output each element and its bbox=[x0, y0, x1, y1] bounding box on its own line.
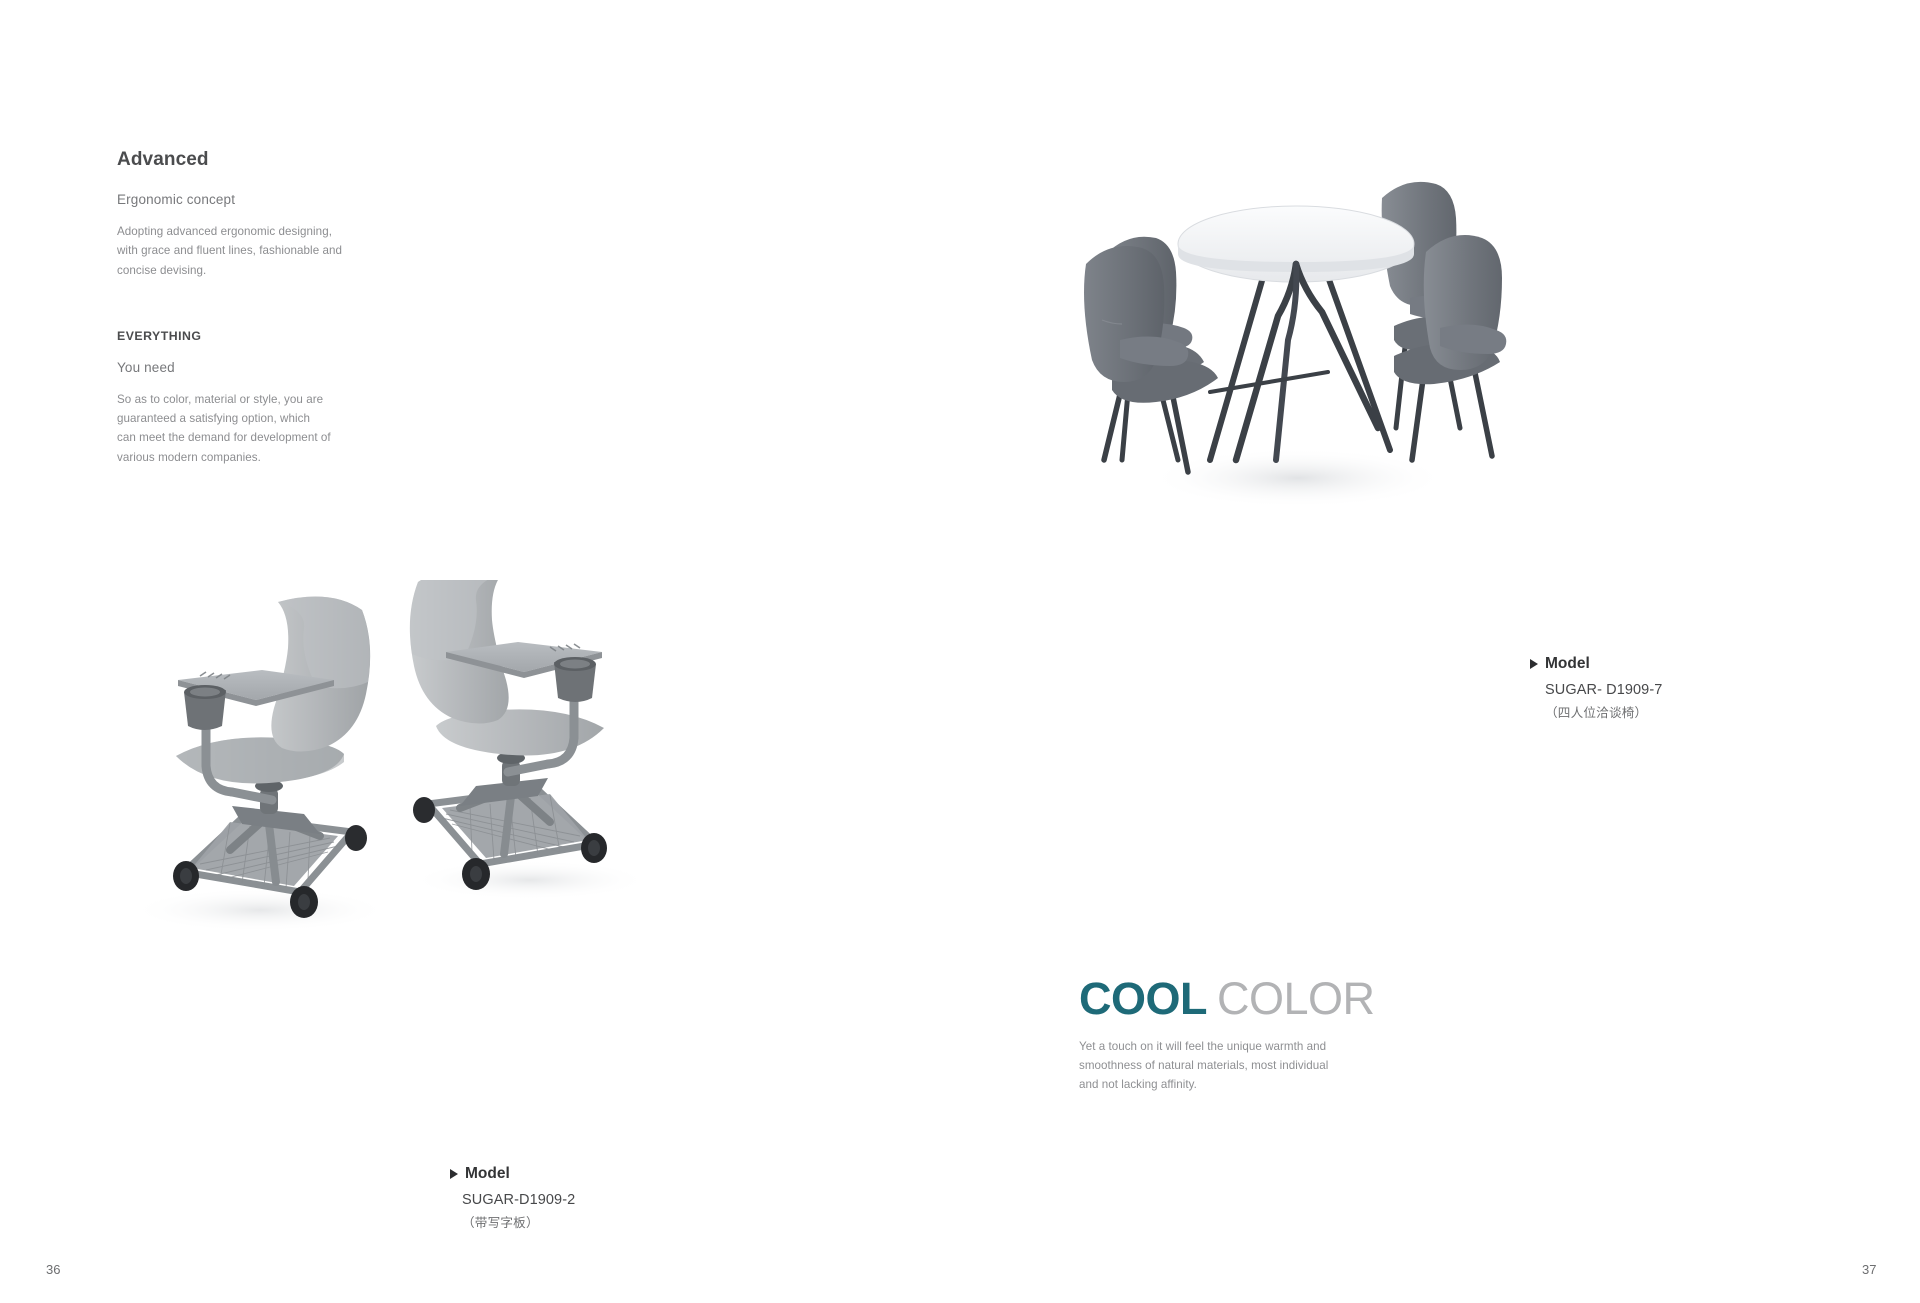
page-number-left: 36 bbox=[46, 1262, 60, 1277]
caption-model-chinese: （带写字板） bbox=[450, 1215, 575, 1231]
caption-title: Model bbox=[450, 1165, 575, 1184]
cool-color-block: COOLCOLOR Yet a touch on it will feel th… bbox=[1079, 975, 1379, 1095]
paragraph-line: smoothness of natural materials, most in… bbox=[1079, 1057, 1379, 1076]
caption-model-code: SUGAR- D1909-7 bbox=[1530, 681, 1662, 699]
spacer bbox=[117, 280, 387, 329]
paragraph-line: Yet a touch on it will feel the unique w… bbox=[1079, 1038, 1379, 1057]
subheading-ergonomic-concept: Ergonomic concept bbox=[117, 192, 387, 208]
cup-holder-left bbox=[184, 685, 226, 730]
paragraph-line: with grace and fluent lines, fashionable… bbox=[117, 241, 387, 260]
subheading-you-need: You need bbox=[117, 360, 387, 376]
intro-text-block: Advanced Ergonomic concept Adopting adva… bbox=[117, 150, 387, 467]
tablet-arm-mobile-chairs-photo bbox=[80, 580, 720, 950]
catalog-spread: Advanced Ergonomic concept Adopting adva… bbox=[0, 0, 1920, 1303]
color-word: COLOR bbox=[1217, 973, 1375, 1024]
cool-color-heading: COOLCOLOR bbox=[1079, 975, 1379, 1022]
round-meeting-table-with-four-chairs-photo bbox=[1060, 160, 1520, 530]
cool-word: COOL bbox=[1079, 973, 1207, 1024]
paragraph-line: various modern companies. bbox=[117, 448, 387, 467]
paragraph-line: and not lacking affinity. bbox=[1079, 1076, 1379, 1095]
caption-title-label: Model bbox=[1545, 655, 1590, 674]
paragraph-line: Adopting advanced ergonomic designing, bbox=[117, 222, 387, 241]
triangle-right-icon bbox=[450, 1169, 458, 1179]
heading-everything: EVERYTHING bbox=[117, 329, 387, 343]
paragraph-line: guaranteed a satisfying option, which bbox=[117, 409, 387, 428]
paragraph-line: So as to color, material or style, you a… bbox=[117, 390, 387, 409]
paragraph-line: concise devising. bbox=[117, 261, 387, 280]
page-number-right: 37 bbox=[1862, 1262, 1876, 1277]
cup-holder-right bbox=[554, 657, 596, 702]
caption-model-sugar-d1909-7: Model SUGAR- D1909-7 （四人位洽谈椅） bbox=[1530, 655, 1662, 721]
caption-model-sugar-d1909-2: Model SUGAR-D1909-2 （带写字板） bbox=[450, 1165, 575, 1231]
caption-model-code: SUGAR-D1909-2 bbox=[450, 1191, 575, 1209]
triangle-right-icon bbox=[1530, 659, 1538, 669]
page-title: Advanced bbox=[117, 150, 387, 171]
paragraph-line: can meet the demand for development of bbox=[117, 428, 387, 447]
paragraph-ergonomic: Adopting advanced ergonomic designing, w… bbox=[117, 222, 387, 280]
caption-title-label: Model bbox=[465, 1165, 510, 1184]
caption-model-chinese: （四人位洽谈椅） bbox=[1530, 705, 1662, 721]
cool-color-paragraph: Yet a touch on it will feel the unique w… bbox=[1079, 1038, 1379, 1095]
paragraph-you-need: So as to color, material or style, you a… bbox=[117, 390, 387, 467]
caption-title: Model bbox=[1530, 655, 1662, 674]
